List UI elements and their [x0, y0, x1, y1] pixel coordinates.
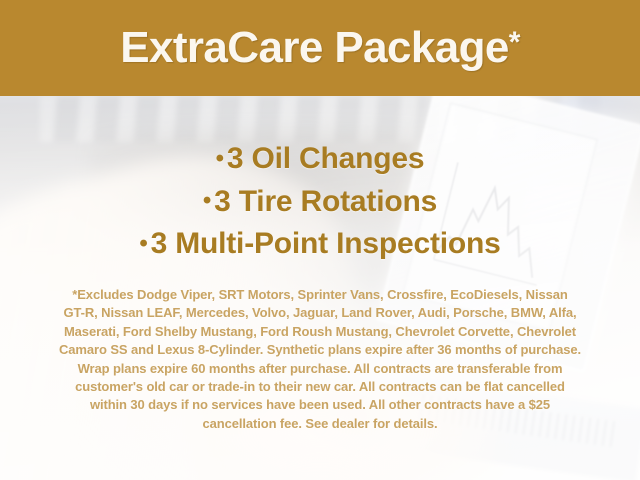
disclaimer-line: cancellation fee. See dealer for details…	[34, 415, 606, 433]
disclaimer-text: *Excludes Dodge Viper, SRT Motors, Sprin…	[34, 286, 606, 433]
bullet-dot-icon: •	[139, 230, 147, 257]
list-item-label: 3 Tire Rotations	[214, 185, 437, 218]
list-item-label: 3 Multi-Point Inspections	[151, 227, 501, 260]
list-item: •3 Tire Rotations	[0, 181, 640, 224]
disclaimer-line: Wrap plans expire 60 months after purcha…	[34, 360, 606, 378]
title-asterisk: *	[509, 26, 520, 59]
disclaimer-line: Maserati, Ford Shelby Mustang, Ford Rous…	[34, 323, 606, 341]
bullet-dot-icon: •	[203, 187, 211, 214]
benefits-list: •3 Oil Changes •3 Tire Rotations •3 Mult…	[0, 138, 640, 266]
disclaimer-line: Camaro SS and Lexus 8-Cylinder. Syntheti…	[34, 341, 606, 359]
disclaimer-line: *Excludes Dodge Viper, SRT Motors, Sprin…	[34, 286, 606, 304]
list-item-label: 3 Oil Changes	[227, 142, 424, 175]
disclaimer-line: customer's old car or trade-in to their …	[34, 378, 606, 396]
list-item: •3 Multi-Point Inspections	[0, 223, 640, 266]
disclaimer-line: GT-R, Nissan LEAF, Mercedes, Volvo, Jagu…	[34, 304, 606, 322]
list-item: •3 Oil Changes	[0, 138, 640, 181]
page-title-text: ExtraCare Package	[120, 23, 509, 72]
bullet-dot-icon: •	[216, 145, 224, 172]
header-banner: ExtraCare Package*	[0, 0, 640, 96]
disclaimer-line: within 30 days if no services have been …	[34, 396, 606, 414]
extracare-promo-card: ExtraCare Package* •3 Oil Changes •3 Tir…	[0, 0, 640, 480]
page-title: ExtraCare Package*	[120, 26, 520, 70]
